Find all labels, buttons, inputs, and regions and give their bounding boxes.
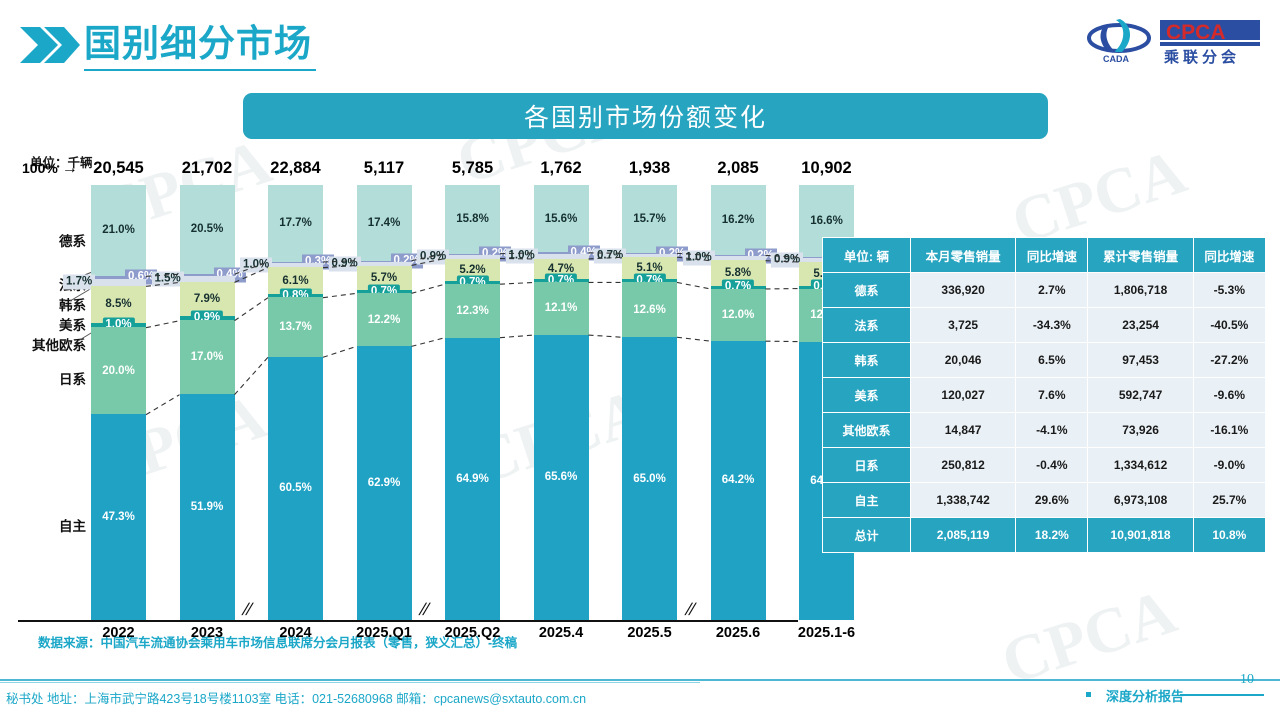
segment-label: 13.7% (279, 321, 312, 333)
title-underline (84, 69, 316, 71)
segment-cn-2025.6: 64.2% (711, 341, 766, 620)
x-axis-label-2024: 2024 (256, 625, 336, 641)
table-row: 美系120,0277.6%592,747-9.6% (823, 378, 1266, 413)
table-cell: -40.5% (1193, 308, 1265, 343)
x-axis-label-2025.1-6: 2025.1-6 (787, 625, 867, 641)
segment-de-2022: 21.0% (91, 185, 146, 276)
svg-text:CADA: CADA (1103, 54, 1129, 64)
bar-total-label: 1,762 (540, 159, 581, 178)
segment-jp-2024: 13.7% (268, 297, 323, 357)
segment-label: 65.6% (545, 471, 578, 483)
segment-label: 20.0% (102, 365, 135, 377)
segment-label: 16.6% (810, 215, 843, 227)
table-cell: 18.2% (1016, 518, 1088, 553)
bar-2025.4: 1,76215.6%0.4%1.0%4.7%0.7%12.1%65.6% (534, 185, 589, 620)
segment-label: 47.3% (102, 511, 135, 523)
svg-text:乘联分会: 乘联分会 (1163, 48, 1240, 66)
segment-label: 16.2% (722, 214, 755, 226)
table-cell: 10,901,818 (1088, 518, 1193, 553)
table-cell: 1,806,718 (1088, 273, 1193, 308)
segment-label: 12.1% (545, 302, 578, 314)
table-cell: 23,254 (1088, 308, 1193, 343)
bar-total-label: 2,085 (717, 159, 758, 178)
bar-2023: 21,70220.5%0.4%1.5%7.9%0.9%17.0%51.9% (180, 185, 235, 620)
table-header-row: 单位: 辆本月零售销量同比增速累计零售销量同比增速 (823, 238, 1266, 273)
table-cell: -5.3% (1193, 273, 1265, 308)
bar-total-label: 22,884 (270, 159, 320, 178)
table-cell: 7.6% (1016, 378, 1088, 413)
table-col-header-3: 累计零售销量 (1088, 238, 1193, 273)
segment-cn-2024: 60.5% (268, 357, 323, 620)
table-cell: 6,973,108 (1088, 483, 1193, 518)
table-cell: 14,847 (911, 413, 1016, 448)
table-cell: -34.3% (1016, 308, 1088, 343)
double-chevron-right-icon (18, 24, 80, 66)
segment-label: 17.7% (279, 217, 312, 229)
segment-label: 7.9% (194, 293, 220, 305)
x-axis-label-2025.5: 2025.5 (610, 625, 690, 641)
table-cell: 336,920 (911, 273, 1016, 308)
table-row-label: 韩系 (823, 343, 911, 378)
bar-total-label: 5,785 (452, 159, 493, 178)
segment-cn-2022: 47.3% (91, 414, 146, 620)
table-cell: -0.4% (1016, 448, 1088, 483)
bar-total-label: 5,117 (364, 159, 404, 178)
table-cell: -4.1% (1016, 413, 1088, 448)
table-row-label: 总计 (823, 518, 911, 553)
table-cell: -16.1% (1193, 413, 1265, 448)
axis-100-percent-label: 100% → (22, 160, 78, 178)
segment-label: 12.2% (368, 314, 401, 326)
segment-label: 17.4% (368, 217, 401, 229)
table-col-header-2: 同比增速 (1016, 238, 1088, 273)
segment-label: 15.6% (545, 213, 578, 225)
bar-total-label: 20,545 (93, 159, 143, 178)
country-sales-table: 单位: 辆本月零售销量同比增速累计零售销量同比增速 德系336,9202.7%1… (822, 237, 1266, 553)
table-cell: 250,812 (911, 448, 1016, 483)
table-cell: 29.6% (1016, 483, 1088, 518)
segment-jp-2023: 17.0% (180, 320, 235, 394)
footer-report-label: 深度分析报告 (1106, 686, 1184, 705)
page-number-rule (1180, 694, 1264, 696)
table-row: 法系3,725-34.3%23,254-40.5% (823, 308, 1266, 343)
slide-root: CPCA CPCA CPCA CPCA CPCA CPCA 国别细分市场 CAD… (0, 0, 1280, 720)
table-cell: 73,926 (1088, 413, 1193, 448)
table-row-label: 德系 (823, 273, 911, 308)
table-total-row: 总计2,085,11918.2%10,901,81810.8% (823, 518, 1266, 553)
segment-jp-2022: 20.0% (91, 327, 146, 414)
segment-cn-2025.4: 65.6% (534, 335, 589, 620)
segment-label: 15.8% (456, 213, 489, 225)
table-row: 韩系20,0466.5%97,453-27.2% (823, 343, 1266, 378)
table-cell: 10.8% (1193, 518, 1265, 553)
segment-label: 64.2% (722, 474, 755, 486)
footer-bullet-icon (1086, 692, 1091, 697)
segment-label: 60.5% (279, 482, 312, 494)
segment-cn-2025.Q1: 62.9% (357, 346, 412, 620)
table-row: 自主1,338,74229.6%6,973,10825.7% (823, 483, 1266, 518)
bar-2024: 22,88417.7%0.3%1.0%6.1%0.8%13.7%60.5% (268, 185, 323, 620)
cpca-logo: CADA CPCA 乘联分会 (1086, 14, 1262, 66)
x-axis-label-2025.Q1: 2025.Q1 (344, 625, 424, 641)
segment-label: 64.9% (456, 473, 489, 485)
bar-2025.Q1: 5,11717.4%0.2%0.9%5.7%0.7%12.2%62.9% (357, 185, 412, 620)
segment-label: 20.5% (191, 223, 224, 235)
table-cell: 3,725 (911, 308, 1016, 343)
table-row-label: 法系 (823, 308, 911, 343)
segment-cn-2023: 51.9% (180, 394, 235, 620)
segment-label: 21.0% (102, 224, 135, 236)
bar-2025.6: 2,08516.2%0.2%1.0%5.8%0.7%12.0%64.2% (711, 185, 766, 620)
x-axis-line (18, 620, 798, 622)
table-row-label: 美系 (823, 378, 911, 413)
table-cell: -27.2% (1193, 343, 1265, 378)
table-col-header-1: 本月零售销量 (911, 238, 1016, 273)
segment-de-2025.5: 15.7% (622, 185, 677, 253)
bar-2025.Q2: 5,78515.8%0.2%0.9%5.2%0.7%12.3%64.9% (445, 185, 500, 620)
svg-text:CPCA: CPCA (1166, 21, 1226, 44)
x-axis-label-2022: 2022 (79, 625, 159, 641)
segment-cn-2025.5: 65.0% (622, 337, 677, 620)
footer-divider (0, 679, 1280, 681)
table-cell: 1,338,742 (911, 483, 1016, 518)
table-col-header-0: 单位: 辆 (823, 238, 911, 273)
table-body: 德系336,9202.7%1,806,718-5.3%法系3,725-34.3%… (823, 273, 1266, 553)
segment-de-2025.Q2: 15.8% (445, 185, 500, 254)
segment-label: 12.3% (456, 305, 489, 317)
segment-label: 12.6% (633, 304, 666, 316)
table-row-label: 日系 (823, 448, 911, 483)
table-row: 日系250,812-0.4%1,334,612-9.0% (823, 448, 1266, 483)
segment-label: 12.0% (722, 309, 755, 321)
segment-de-2024: 17.7% (268, 185, 323, 262)
segment-label: 5.8% (725, 267, 751, 279)
segment-de-2023: 20.5% (180, 185, 235, 274)
segment-jp-2025.4: 12.1% (534, 282, 589, 335)
x-axis-label-2023: 2023 (167, 625, 247, 641)
table-cell: 1,334,612 (1088, 448, 1193, 483)
segment-jp-2025.5: 12.6% (622, 282, 677, 337)
table-row-label: 自主 (823, 483, 911, 518)
segment-de-2025.Q1: 17.4% (357, 185, 412, 261)
x-axis-label-2025.4: 2025.4 (521, 625, 601, 641)
footer-secretariat: 秘书处 地址：上海市武宁路423号18号楼1103室 电话：021-526809… (6, 688, 586, 707)
table-row: 德系336,9202.7%1,806,718-5.3% (823, 273, 1266, 308)
page-title: 国别细分市场 (84, 20, 312, 68)
footer-divider-secondary (0, 682, 700, 683)
segment-label: 15.7% (633, 213, 666, 225)
table-cell: 2.7% (1016, 273, 1088, 308)
segment-label: 6.1% (282, 275, 308, 287)
segment-label: 5.2% (459, 264, 485, 276)
segment-kr-2022: 1.7% (91, 279, 146, 286)
bar-2022: 20,54521.0%0.6%1.7%8.5%1.0%20.0%47.3% (91, 185, 146, 620)
table-cell: 592,747 (1088, 378, 1193, 413)
table-row-label: 其他欧系 (823, 413, 911, 448)
segment-cn-2025.Q2: 64.9% (445, 338, 500, 620)
table-cell: -9.0% (1193, 448, 1265, 483)
table-row: 其他欧系14,847-4.1%73,926-16.1% (823, 413, 1266, 448)
table-cell: 25.7% (1193, 483, 1265, 518)
x-axis-label-2025.Q2: 2025.Q2 (433, 625, 513, 641)
table-cell: 2,085,119 (911, 518, 1016, 553)
chart-title: 各国别市场份额变化 (243, 93, 1048, 139)
bar-total-label: 1,938 (629, 159, 670, 178)
segment-label: 51.9% (191, 501, 224, 513)
table-col-header-4: 同比增速 (1193, 238, 1265, 273)
page-number: 10 (1240, 672, 1254, 688)
bar-2025.5: 1,93815.7%0.2%0.7%5.1%0.7%12.6%65.0% (622, 185, 677, 620)
table-cell: 97,453 (1088, 343, 1193, 378)
segment-label: 65.0% (633, 473, 666, 485)
segment-label: 8.5% (105, 298, 131, 310)
table-cell: 20,046 (911, 343, 1016, 378)
table-cell: 120,027 (911, 378, 1016, 413)
segment-label: 17.0% (191, 351, 224, 363)
bar-total-label: 21,702 (182, 159, 232, 178)
segment-jp-2025.Q1: 12.2% (357, 293, 412, 346)
segment-jp-2025.6: 12.0% (711, 289, 766, 341)
bar-total-label: 10,902 (801, 159, 851, 178)
table-cell: -9.6% (1193, 378, 1265, 413)
stacked-bar-chart: 20,54521.0%0.6%1.7%8.5%1.0%20.0%47.3%21,… (0, 185, 800, 620)
table-cell: 6.5% (1016, 343, 1088, 378)
segment-label: 5.7% (371, 272, 397, 284)
segment-jp-2025.Q2: 12.3% (445, 284, 500, 338)
segment-de-2025.6: 16.2% (711, 185, 766, 255)
segment-de-2025.4: 15.6% (534, 185, 589, 253)
segment-label: 62.9% (368, 477, 401, 489)
x-axis-label-2025.6: 2025.6 (698, 625, 778, 641)
